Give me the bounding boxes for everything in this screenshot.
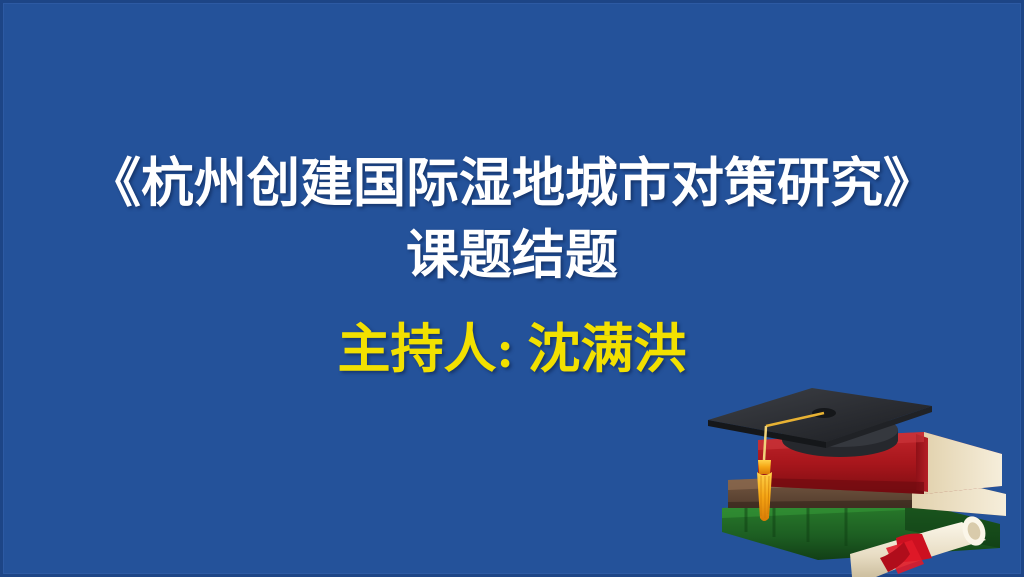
slide-title-line-1: 《杭州创建国际湿地城市对策研究》 bbox=[0, 148, 1024, 220]
slide-text-block: 《杭州创建国际湿地城市对策研究》 课题结题 主持人: 沈满洪 bbox=[0, 148, 1024, 386]
graduation-cap-and-books-illustration bbox=[700, 382, 1024, 577]
presentation-slide: 《杭州创建国际湿地城市对策研究》 课题结题 主持人: 沈满洪 bbox=[0, 0, 1024, 577]
slide-presenter-label: 主持人: 沈满洪 bbox=[0, 314, 1024, 386]
slide-title-line-2: 课题结题 bbox=[0, 220, 1024, 292]
